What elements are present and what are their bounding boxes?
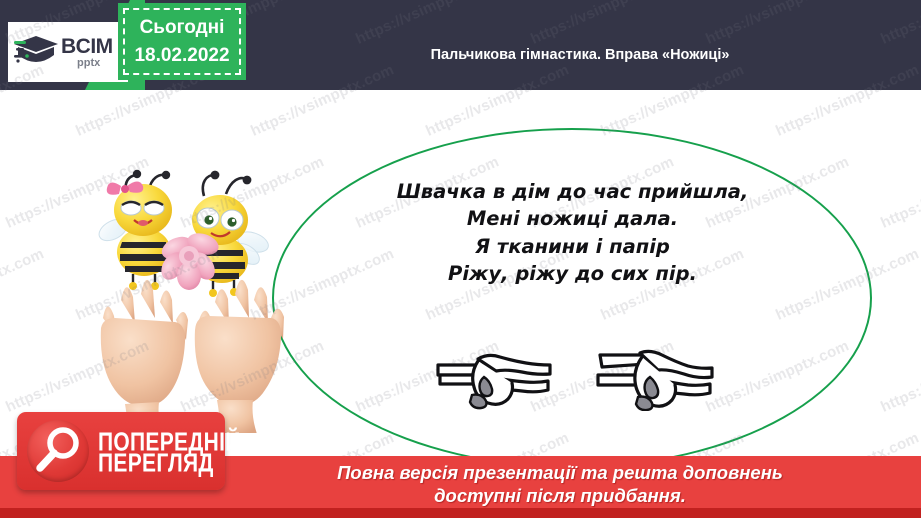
preview-line-2: ПЕРЕГЛЯД [98, 451, 241, 477]
magnifier-icon [27, 420, 89, 482]
hand-gesture-row [432, 336, 722, 416]
preview-badge-text: ПОПЕРЕДНІЙ ПЕРЕГЛЯД [98, 430, 241, 473]
logo-brand: BCIM [61, 36, 113, 57]
hand-scissors-closed-icon [432, 341, 562, 411]
poem-line-4: Ріжу, ріжу до сих пір. [300, 260, 845, 287]
childrens-hands-illustration [101, 280, 284, 433]
preview-badge[interactable]: ПОПЕРЕДНІЙ ПЕРЕГЛЯД [17, 412, 225, 490]
graduation-cap-icon [14, 32, 60, 72]
logo[interactable]: BCIM pptx [8, 22, 128, 82]
poem-line-3: Я тканини і папір [300, 233, 845, 260]
illustration-svg [95, 168, 300, 433]
poem-line-1: Швачка в дім до час прийшла, [300, 178, 845, 205]
slide-canvas: Швачка в дім до час прийшла, Мені ножиці… [0, 0, 921, 518]
poem-line-2: Мені ножиці дала. [300, 205, 845, 232]
date-badge-value: 18.02.2022 [134, 42, 229, 70]
logo-text: BCIM pptx [61, 36, 113, 69]
banner-line-2: доступні після придбання. [434, 484, 686, 507]
poem-text: Швачка в дім до час прийшла, Мені ножиці… [300, 178, 845, 288]
hand-scissors-open-icon [592, 341, 722, 411]
date-badge-label: Сьогодні [140, 14, 225, 42]
bees-hands-illustration [95, 168, 300, 433]
bee-left-icon [96, 170, 172, 290]
banner-line-1: Повна версія презентації та решта доповн… [337, 461, 783, 484]
purchase-banner-text: Повна версія презентації та решта доповн… [230, 456, 890, 512]
logo-sub: pptx [77, 58, 113, 69]
page-title: Пальчикова гімнастика. Вправа «Ножиці» [300, 28, 860, 82]
date-badge: Сьогодні 18.02.2022 [118, 3, 246, 80]
